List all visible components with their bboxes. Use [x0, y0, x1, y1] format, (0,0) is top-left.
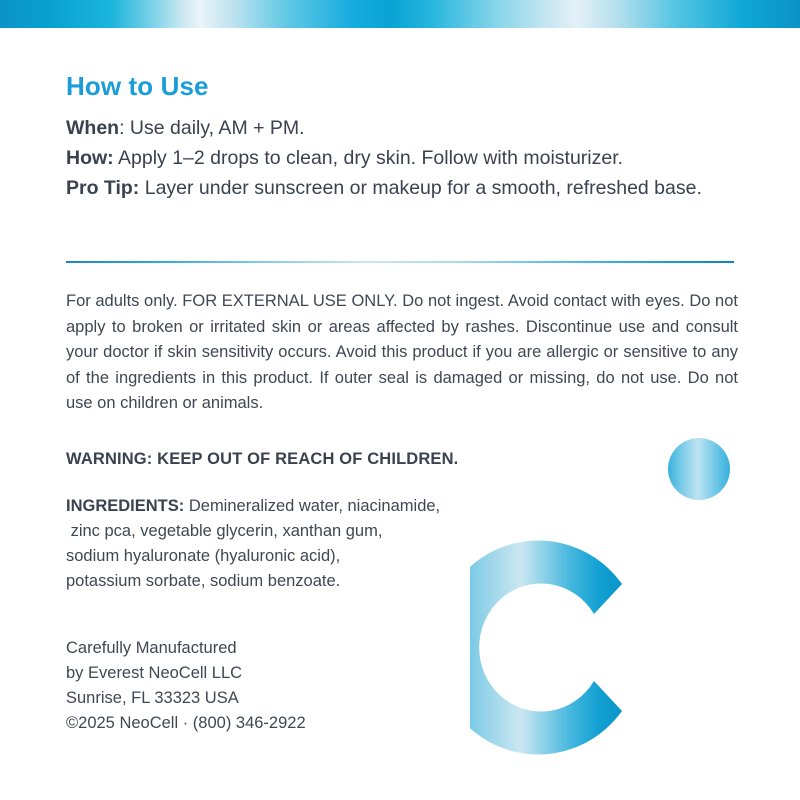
usage-label-when: When: [66, 117, 119, 139]
manufacturer-block: Carefully Manufactured by Everest NeoCel…: [66, 636, 306, 736]
ingredients-label: INGREDIENTS:: [66, 497, 184, 515]
usage-label-how: How:: [66, 147, 114, 169]
neocell-c-logo-icon: [470, 540, 650, 755]
product-label-panel: How to Use When: Use daily, AM + PM. How…: [0, 0, 800, 800]
usage-text-how: Apply 1–2 drops to clean, dry skin. Foll…: [118, 147, 623, 169]
usage-label-pro-tip: Pro Tip:: [66, 177, 139, 199]
usage-text-pro-tip: Layer under sunscreen or makeup for a sm…: [145, 177, 702, 199]
top-gradient-bar: [0, 0, 800, 28]
manufacturer-line-1: Carefully Manufactured: [66, 636, 306, 661]
manufacturer-line-4: ©2025 NeoCell · (800) 346-2922: [66, 711, 306, 736]
usage-text-when: Use daily, AM + PM.: [130, 117, 305, 139]
manufacturer-line-2: by Everest NeoCell LLC: [66, 661, 306, 686]
ingredients-line-1: Demineralized water, niacinamide,: [184, 497, 440, 515]
warning-text: WARNING: KEEP OUT OF REACH OF CHILDREN.: [66, 450, 458, 469]
caution-paragraph: For adults only. FOR EXTERNAL USE ONLY. …: [66, 289, 738, 417]
usage-line-pro-tip: Pro Tip: Layer under sunscreen or makeup…: [66, 173, 734, 203]
how-to-use-section: How to Use When: Use daily, AM + PM. How…: [66, 72, 734, 203]
blue-dot-icon: [668, 438, 730, 500]
ingredients-line-3: sodium hyaluronate (hyaluronic acid),: [66, 547, 340, 565]
usage-line-how: How: Apply 1–2 drops to clean, dry skin.…: [66, 143, 734, 173]
ingredients-line-2: zinc pca, vegetable glycerin, xanthan gu…: [66, 522, 382, 540]
section-divider: [66, 261, 734, 263]
usage-separator-when: :: [119, 117, 130, 139]
ingredients-line-4: potassium sorbate, sodium benzoate.: [66, 572, 340, 590]
manufacturer-line-3: Sunrise, FL 33323 USA: [66, 686, 306, 711]
page-title: How to Use: [66, 72, 734, 101]
usage-line-when: When: Use daily, AM + PM.: [66, 113, 734, 143]
